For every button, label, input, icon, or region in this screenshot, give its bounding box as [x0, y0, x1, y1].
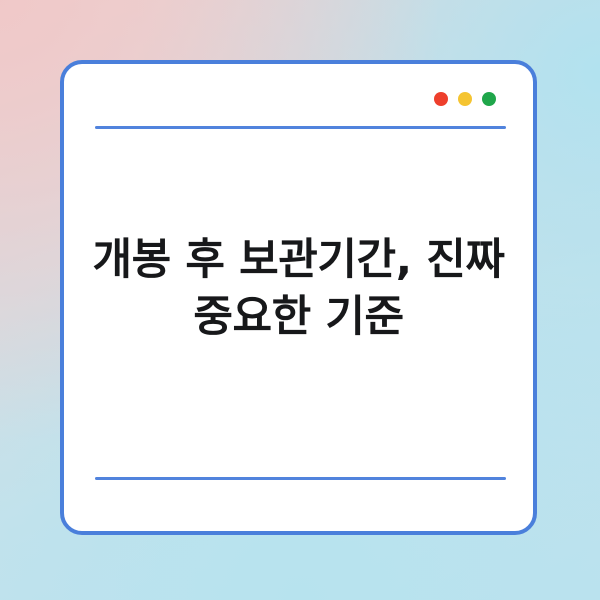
close-dot[interactable]: [434, 92, 448, 106]
bottom-divider: [95, 477, 506, 480]
minimize-dot[interactable]: [458, 92, 472, 106]
top-divider: [95, 126, 506, 129]
title-line-1: 개봉 후 보관기간, 진짜: [88, 232, 509, 289]
content-card: 개봉 후 보관기간, 진짜 중요한 기준: [60, 60, 537, 535]
title-line-2: 중요한 기준: [88, 289, 509, 346]
page-title: 개봉 후 보관기간, 진짜 중요한 기준: [64, 232, 533, 346]
poster-canvas: 개봉 후 보관기간, 진짜 중요한 기준: [0, 0, 600, 600]
maximize-dot[interactable]: [482, 92, 496, 106]
window-control-dots: [434, 92, 496, 106]
